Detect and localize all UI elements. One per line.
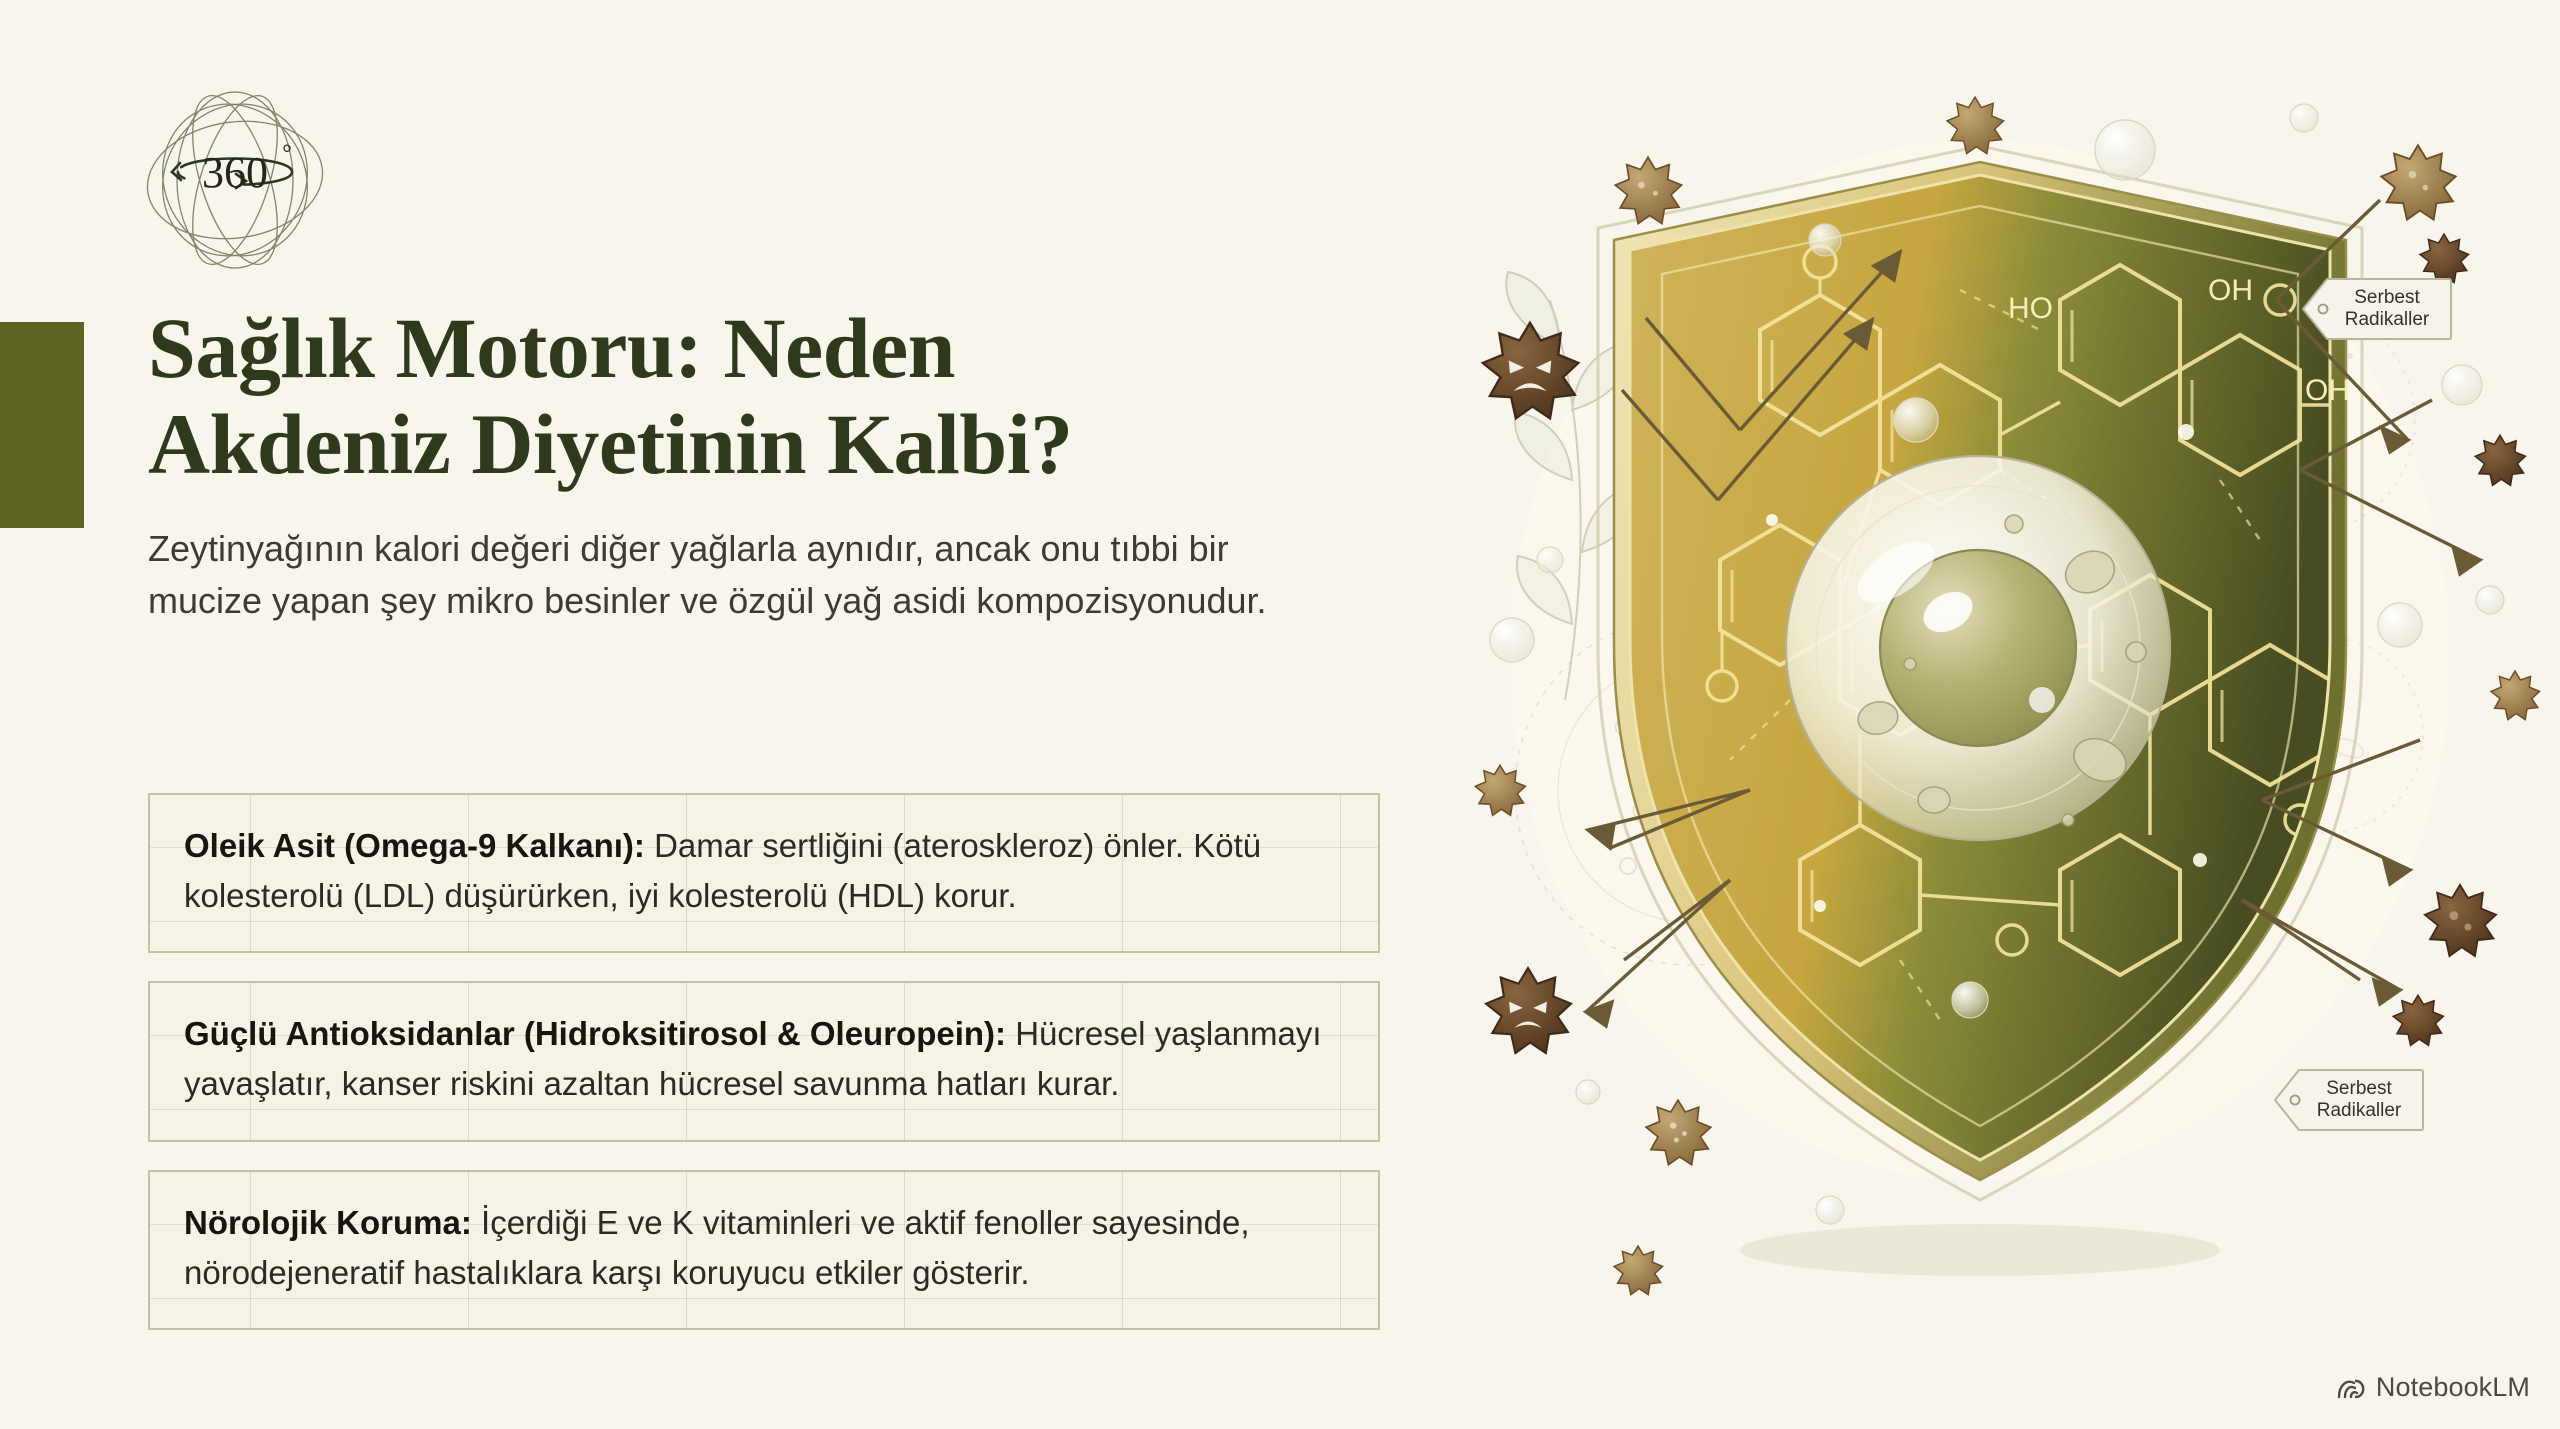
protected-cell — [1786, 456, 2170, 840]
free-radical-germ — [2381, 145, 2456, 220]
globe-360-icon: 360 ° — [140, 85, 330, 275]
free-radical-germ — [2420, 234, 2469, 283]
card-text: Oleik Asit (Omega-9 Kalkanı): Damar sert… — [184, 821, 1344, 921]
notebooklm-watermark: NotebookLM — [2336, 1372, 2530, 1403]
free-radical-germ — [2475, 435, 2525, 485]
free-radical-germ — [1475, 765, 1525, 815]
callout-tag-free-radicals-bottom: Serbest Radikaller — [2273, 1068, 2425, 1132]
card-lead: Güçlü Antioksidanlar (Hidroksitirosol & … — [184, 1015, 1006, 1052]
page-title: Sağlık Motoru: Neden Akdeniz Diyetinin K… — [148, 300, 1388, 493]
card-text: Nörolojik Koruma: İçerdiği E ve K vitami… — [184, 1198, 1344, 1298]
callout-tag-free-radicals-top: Serbest Radikaller — [2301, 277, 2453, 341]
free-radical-germ — [1483, 323, 1579, 419]
benefit-card-neurological[interactable]: Nörolojik Koruma: İçerdiği E ve K vitami… — [148, 1170, 1380, 1330]
header-block: Sağlık Motoru: Neden Akdeniz Diyetinin K… — [148, 300, 1388, 627]
benefit-card-antioxidants[interactable]: Güçlü Antioksidanlar (Hidroksitirosol & … — [148, 981, 1380, 1141]
badge-degree: ° — [282, 141, 292, 167]
slide-root: 360 ° Sağlık Motoru: Neden Akdeniz Diyet… — [0, 0, 2560, 1429]
free-radical-germ — [2393, 995, 2443, 1045]
accent-bar — [0, 322, 84, 528]
badge-number: 360 — [202, 148, 268, 197]
label-oh-mid: OH — [2305, 374, 2350, 407]
free-radical-germ — [2425, 885, 2496, 956]
card-lead: Oleik Asit (Omega-9 Kalkanı): — [184, 827, 645, 864]
card-lead: Nörolojik Koruma: — [184, 1204, 472, 1241]
label-ho-top: HO — [2008, 292, 2053, 325]
free-radical-germ — [1614, 1246, 1663, 1295]
benefit-card-oleic-acid[interactable]: Oleik Asit (Omega-9 Kalkanı): Damar sert… — [148, 793, 1380, 953]
page-subtitle: Zeytinyağının kalori değeri diğer yağlar… — [148, 523, 1328, 627]
notebooklm-logo-icon — [2336, 1375, 2366, 1401]
callout-tag-label: Serbest Radikaller — [2327, 277, 2447, 341]
callout-tag-label: Serbest Radikaller — [2299, 1068, 2419, 1132]
free-radical-germ — [1486, 968, 1571, 1053]
label-oh-top: OH — [2208, 274, 2253, 307]
watermark-label: NotebookLM — [2376, 1372, 2530, 1403]
free-radical-germ — [1646, 1100, 1711, 1165]
benefit-card-list: Oleik Asit (Omega-9 Kalkanı): Damar sert… — [148, 793, 1380, 1358]
card-text: Güçlü Antioksidanlar (Hidroksitirosol & … — [184, 1009, 1344, 1109]
free-radical-germ — [2491, 671, 2540, 720]
antioxidant-shield-illustration: HO OH OH HO — [1400, 0, 2560, 1429]
